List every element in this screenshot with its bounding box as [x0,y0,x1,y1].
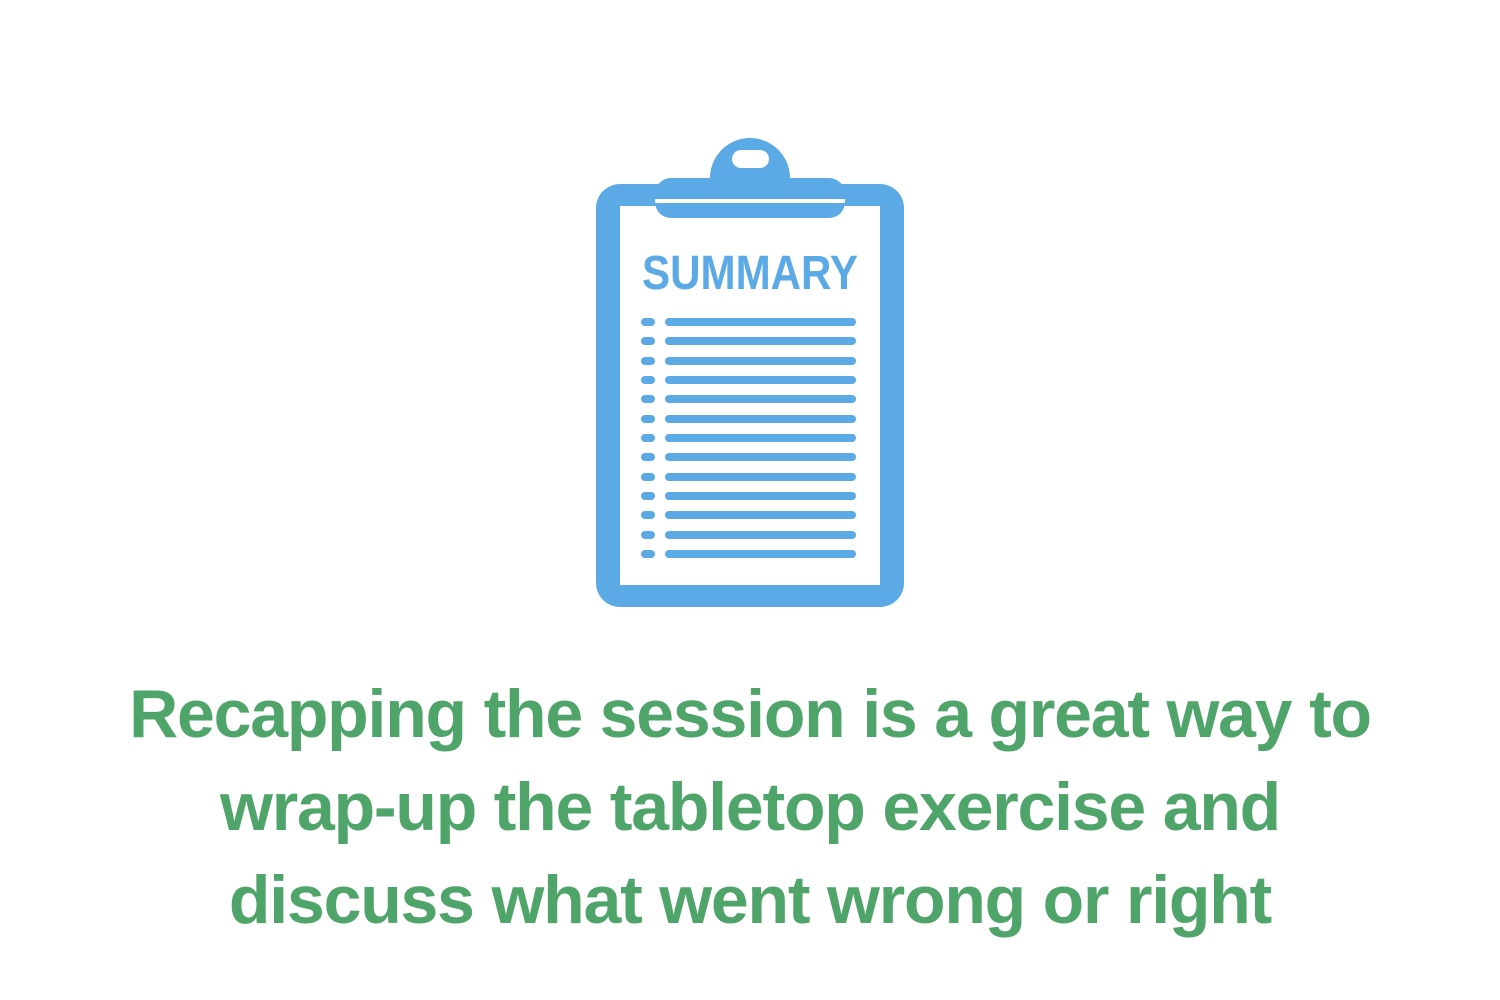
list-bullet-icon [641,511,655,519]
caption-text: Recapping the session is a great way to … [60,668,1440,947]
list-line-icon [665,357,856,365]
hanger-hole-icon [732,150,769,168]
list-item [641,550,856,558]
list-bullet-icon [641,453,655,461]
list-line-icon [665,395,856,403]
list-item [641,395,856,403]
list-item [641,318,856,326]
list-item [641,453,856,461]
list-bullet-icon [641,415,655,423]
clipboard-svg: SUMMARY [0,0,1500,660]
list-bullet-icon [641,550,655,558]
list-line-icon [665,473,856,481]
list-line-icon [665,511,856,519]
list-bullet-icon [641,357,655,365]
caption-line-1: Recapping the session is a great way to [60,668,1440,761]
list-line-icon [665,492,856,500]
list-item [641,337,856,345]
clip-bar-icon [655,178,845,218]
list-item [641,492,856,500]
list-bullet-icon [641,492,655,500]
list-item [641,357,856,365]
caption-line-2: wrap-up the tabletop exercise and [60,761,1440,854]
list-bullet-icon [641,473,655,481]
list-line-icon [665,453,856,461]
list-item [641,473,856,481]
list-item [641,434,856,442]
clip-bar-group [655,178,845,218]
slide-canvas: SUMMARY Recapping the session is a great… [0,0,1500,1000]
list-bullet-icon [641,434,655,442]
document-title: SUMMARY [642,247,858,300]
list-line-icon [665,434,856,442]
list-line-icon [665,550,856,558]
list-item [641,531,856,539]
list-bullet-icon [641,376,655,384]
list-line-icon [665,531,856,539]
list-bullet-icon [641,531,655,539]
list-line-icon [665,337,856,345]
list-item [641,415,856,423]
caption-line-3: discuss what went wrong or right [60,854,1440,947]
list-item [641,511,856,519]
list-line-icon [665,318,856,326]
list-bullet-icon [641,318,655,326]
list-line-icon [665,415,856,423]
list-item [641,376,856,384]
clip-bar-divider-icon [655,199,845,203]
clipboard-summary-icon: SUMMARY [0,0,1500,660]
list-bullet-icon [641,337,655,345]
list-bullet-icon [641,395,655,403]
list-line-icon [665,376,856,384]
